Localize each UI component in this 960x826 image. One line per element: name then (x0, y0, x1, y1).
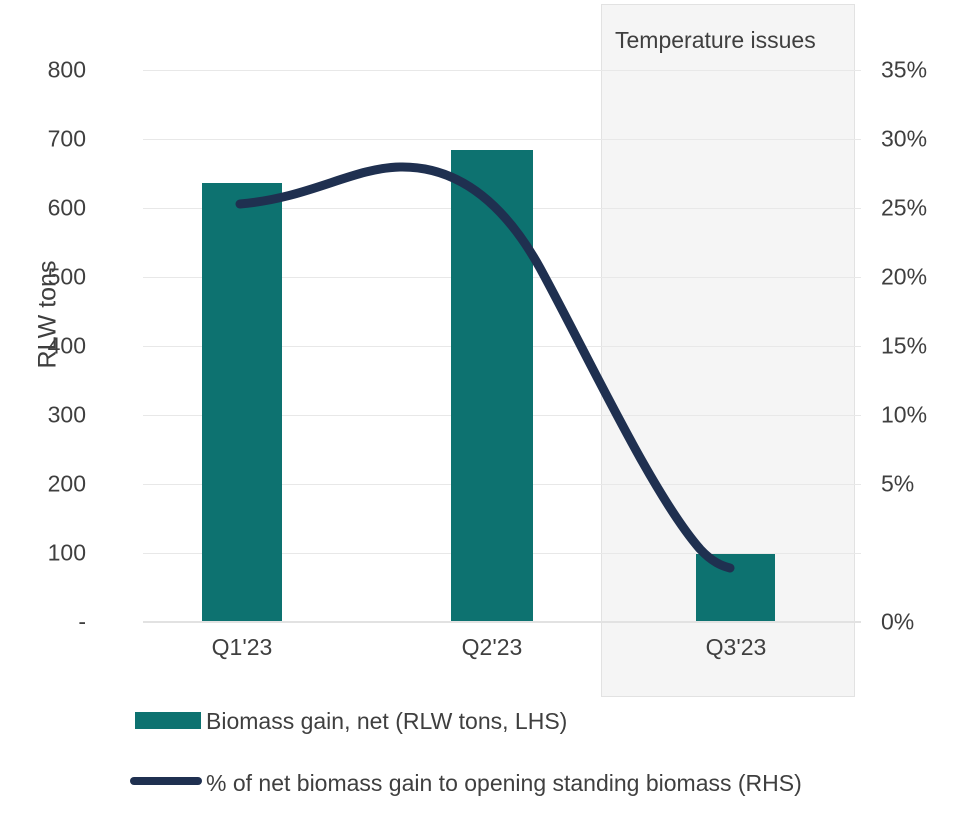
legend-swatch-line[interactable] (130, 777, 202, 785)
x-tick-label-q2-23: Q2'23 (412, 634, 572, 661)
legend-label-bar[interactable]: Biomass gain, net (RLW tons, LHS) (206, 708, 567, 735)
line-series-path[interactable] (240, 167, 730, 568)
x-tick-label-q3-23: Q3'23 (656, 634, 816, 661)
x-tick-label-q1-23: Q1'23 (162, 634, 322, 661)
chart-container: Temperature issues RLW tons 800 700 600 … (0, 0, 960, 826)
legend-swatch-bar[interactable] (135, 712, 201, 729)
legend-label-line[interactable]: % of net biomass gain to opening standin… (206, 770, 802, 797)
line-series-overlay (0, 0, 960, 826)
